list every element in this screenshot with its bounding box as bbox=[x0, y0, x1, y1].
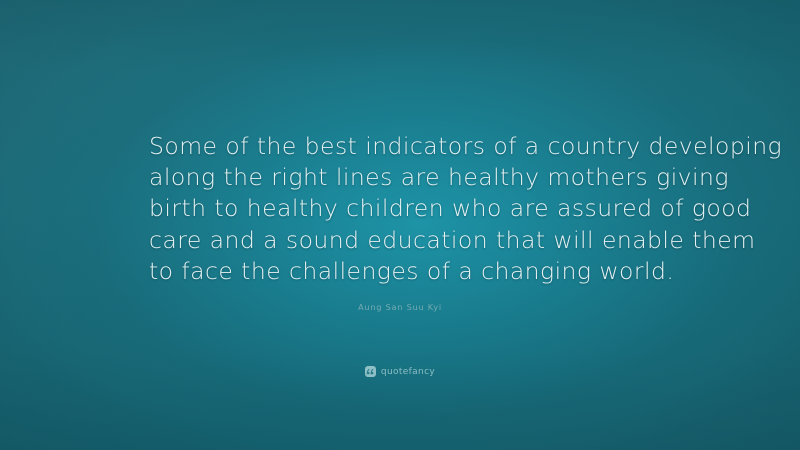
quote-image-canvas: Some of the best indicators of a country… bbox=[0, 0, 800, 450]
quote-line: along the right lines are healthy mother… bbox=[149, 162, 669, 193]
quote-line: Some of the best indicators of a country… bbox=[149, 131, 669, 162]
watermark-brand-label: quotefancy bbox=[381, 367, 435, 377]
quote-text-block: Some of the best indicators of a country… bbox=[149, 131, 669, 287]
watermark[interactable]: quotefancy bbox=[0, 366, 800, 377]
quotation-mark-icon bbox=[365, 366, 376, 377]
quote-line: care and a sound education that will ena… bbox=[149, 225, 669, 256]
quote-content-area: Some of the best indicators of a country… bbox=[0, 0, 800, 450]
quote-line: to face the challenges of a changing wor… bbox=[149, 256, 669, 287]
quote-line: birth to healthy children who are assure… bbox=[149, 193, 669, 224]
quote-attribution: Aung San Suu Kyi bbox=[0, 302, 800, 312]
